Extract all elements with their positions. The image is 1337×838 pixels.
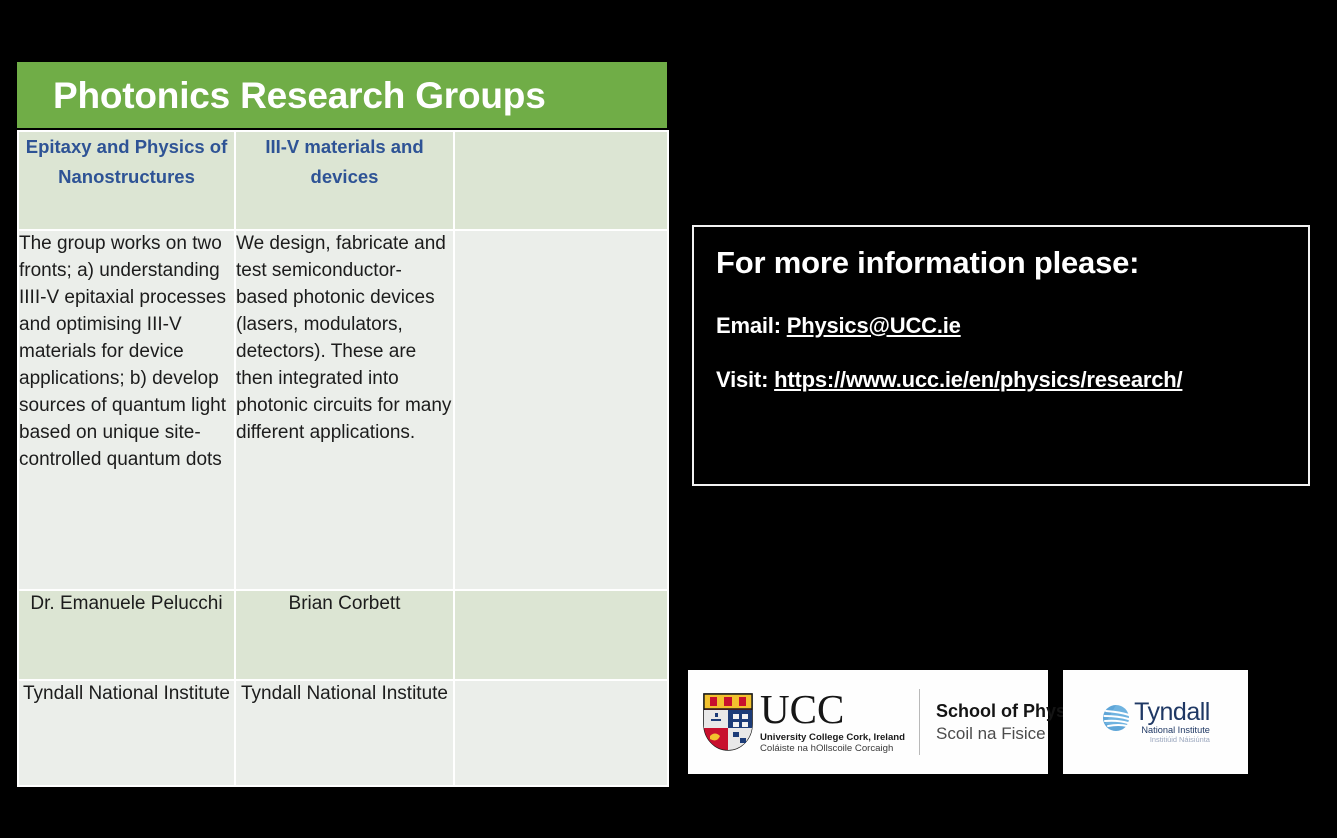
tyndall-name: Tyndall [1134,700,1210,724]
website-label: Visit: [716,367,774,392]
group-lead-cell: Brian Corbett [236,591,453,679]
column-header-cell: Epitaxy and Physics of Nanostructures [19,132,234,229]
more-information-box: For more information please: Email: Phys… [692,225,1310,486]
group-institute-cell [455,681,667,785]
info-heading: For more information please: [716,245,1286,281]
table-description-row: The group works on two fronts; a) unders… [19,231,667,589]
table-title-bar: Photonics Research Groups [17,62,667,128]
photonics-research-groups-panel: Photonics Research Groups Epitaxy and Ph… [17,62,667,783]
group-institute-cell: Tyndall National Institute [19,681,234,785]
group-lead-cell: Dr. Emanuele Pelucchi [19,591,234,679]
page-title: Photonics Research Groups [53,77,546,114]
tyndall-subtitle-en: National Institute [1134,725,1210,736]
website-link[interactable]: https://www.ucc.ie/en/physics/research/ [774,367,1182,392]
ucc-wordmark: UCC University College Cork, Ireland Col… [760,690,905,754]
column-header-cell [455,132,667,229]
email-link[interactable]: Physics@UCC.ie [787,313,961,338]
tyndall-national-institute-logo: Tyndall National Institute Institiúid Ná… [1063,670,1248,774]
group-institute-cell: Tyndall National Institute [236,681,453,785]
research-groups-table: Epitaxy and Physics of Nanostructures II… [17,130,669,787]
email-line: Email: Physics@UCC.ie [716,313,1286,339]
ucc-letters: UCC [760,690,905,729]
table-lead-row: Dr. Emanuele Pelucchi Brian Corbett [19,591,667,679]
ucc-subtitle-ga: Coláiste na hOllscoile Corcaigh [760,743,905,754]
group-description-cell: The group works on two fronts; a) unders… [19,231,234,589]
email-label: Email: [716,313,787,338]
ucc-school-of-physics-logo: UCC University College Cork, Ireland Col… [688,670,1048,774]
group-lead-cell [455,591,667,679]
ucc-subtitle-en: University College Cork, Ireland [760,732,905,743]
table-header-row: Epitaxy and Physics of Nanostructures II… [19,132,667,229]
ucc-crest-icon [702,692,754,752]
group-description-cell: We design, fabricate and test semiconduc… [236,231,453,589]
logo-divider [919,689,920,755]
website-line: Visit: https://www.ucc.ie/en/physics/res… [716,367,1286,393]
tyndall-subtitle-ga: Institiúid Náisiúnta [1134,736,1210,745]
tyndall-globe-icon [1101,703,1131,733]
table-institute-row: Tyndall National Institute Tyndall Natio… [19,681,667,785]
column-header-cell: III-V materials and devices [236,132,453,229]
group-description-cell [455,231,667,589]
